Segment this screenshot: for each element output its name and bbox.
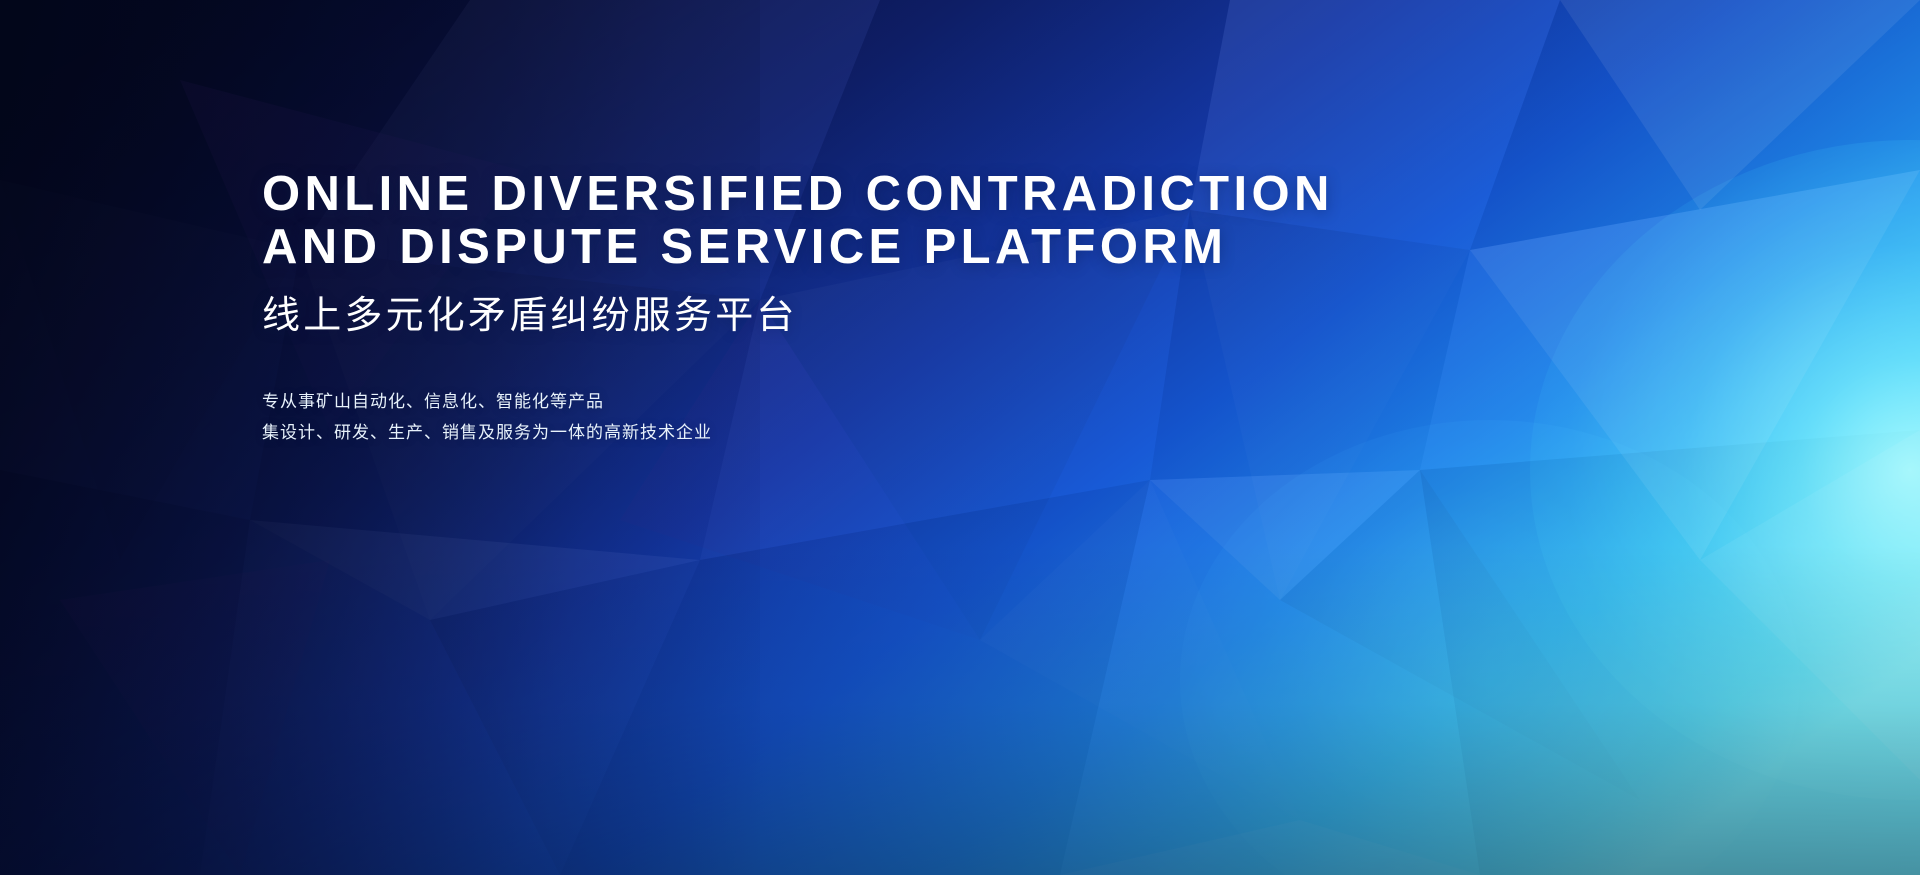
headline-english-line-1: ONLINE DIVERSIFIED CONTRADICTION (262, 168, 1462, 221)
headline-chinese: 线上多元化矛盾纠纷服务平台 (262, 294, 1462, 338)
subtitle-block: 专从事矿山自动化、信息化、智能化等产品 集设计、研发、生产、销售及服务为一体的高… (262, 386, 1462, 448)
subtitle-line-2: 集设计、研发、生产、销售及服务为一体的高新技术企业 (262, 417, 1462, 448)
hero-text-block: ONLINE DIVERSIFIED CONTRADICTION AND DIS… (262, 168, 1462, 448)
subtitle-line-1: 专从事矿山自动化、信息化、智能化等产品 (262, 386, 1462, 417)
headline-english: ONLINE DIVERSIFIED CONTRADICTION AND DIS… (262, 168, 1462, 274)
hero-banner: ONLINE DIVERSIFIED CONTRADICTION AND DIS… (0, 0, 1920, 875)
headline-english-line-2: AND DISPUTE SERVICE PLATFORM (262, 221, 1462, 274)
